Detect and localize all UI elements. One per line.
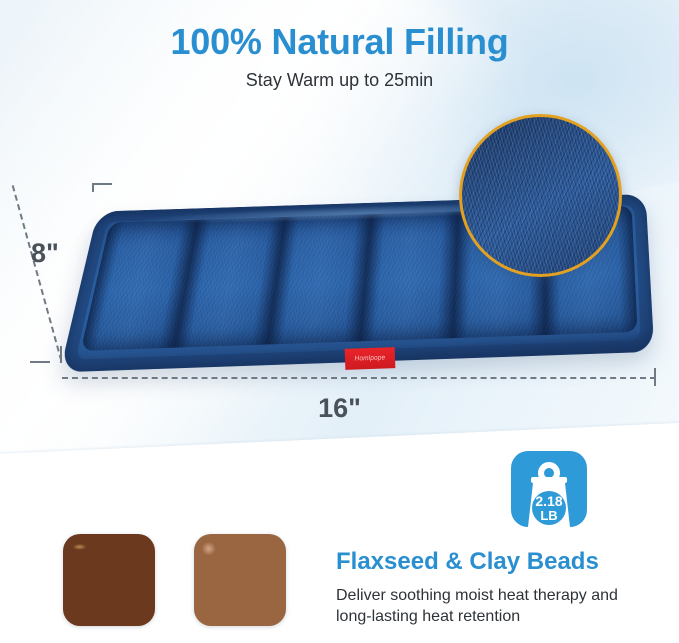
- width-guide-line: [62, 377, 656, 379]
- flaxseed-swatch: [63, 534, 155, 626]
- product-infographic: 100% Natural Filling Stay Warm up to 25m…: [0, 0, 679, 643]
- weight-unit: LB: [540, 508, 557, 523]
- materials-description: Deliver soothing moist heat therapy and …: [336, 585, 646, 627]
- fabric-closeup-circle: [459, 114, 622, 277]
- page-subtitle: Stay Warm up to 25min: [0, 70, 679, 91]
- height-label: 8": [31, 238, 59, 269]
- width-label: 16": [0, 393, 679, 424]
- clay-beads-swatch: [194, 534, 286, 626]
- brand-tag-label: Homlpope: [347, 347, 394, 370]
- weight-icon: 2.18 LB: [511, 451, 587, 527]
- width-guide-tick-right: [654, 368, 656, 386]
- page-title: 100% Natural Filling: [0, 21, 679, 63]
- height-guide-tick-top: [92, 183, 112, 185]
- height-guide-tick-top-end: [92, 183, 94, 192]
- brand-tag: Homlpope: [345, 347, 396, 370]
- height-guide-tick-bottom-end: [60, 346, 62, 363]
- height-guide-tick-bottom: [30, 361, 50, 363]
- materials-title: Flaxseed & Clay Beads: [336, 548, 599, 576]
- weight-badge: 2.18 LB: [511, 451, 587, 527]
- weight-value: 2.18: [535, 493, 562, 509]
